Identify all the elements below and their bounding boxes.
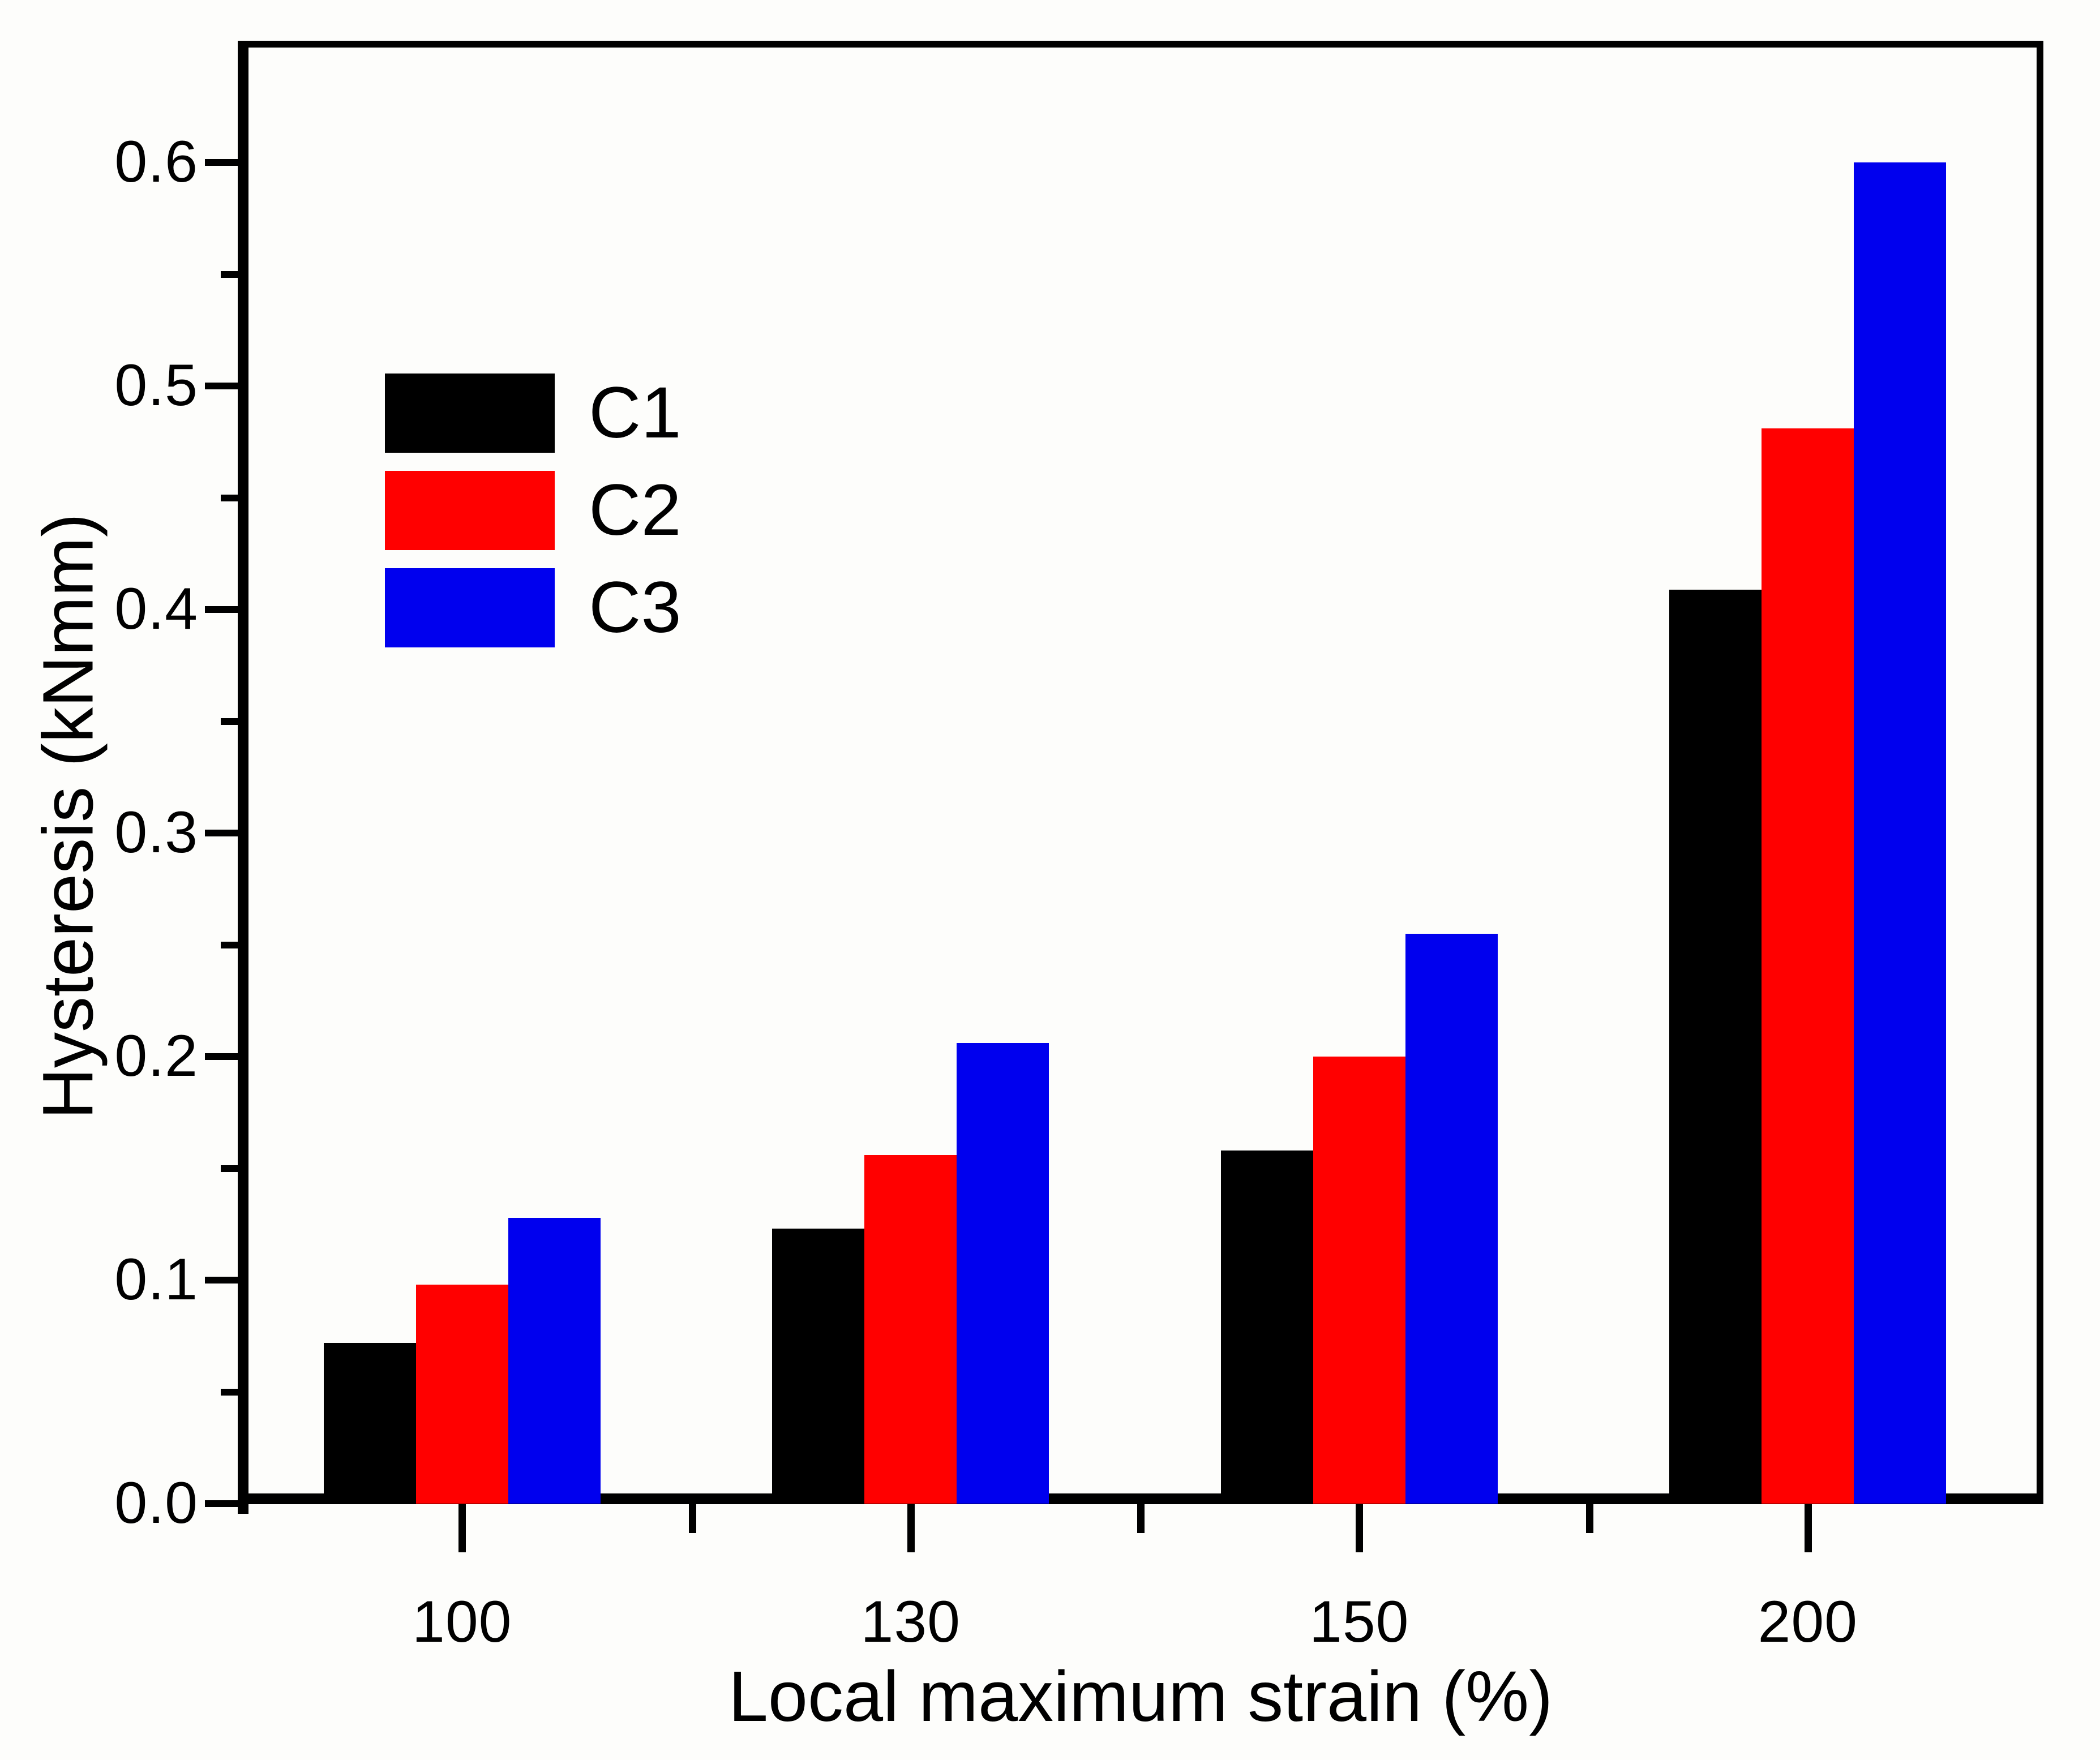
chart-figure: 0.00.10.20.30.40.50.6100130150200 C1 C2 … (0, 0, 2100, 1760)
legend-swatch-c1 (385, 374, 555, 453)
x-tick-major (458, 1504, 466, 1552)
x-tick-label: 100 (412, 1589, 512, 1656)
y-tick-major (205, 383, 243, 389)
legend-item-c2[interactable]: C2 (385, 468, 781, 553)
y-tick-minor (221, 1165, 243, 1172)
x-tick-label: 130 (860, 1589, 961, 1656)
bar-c1-130[interactable] (772, 1229, 864, 1504)
legend-swatch-c2 (385, 471, 555, 550)
bar-c2-100[interactable] (416, 1285, 508, 1504)
bar-c2-200[interactable] (1762, 428, 1854, 1504)
plot-area: 0.00.10.20.30.40.50.6100130150200 (243, 51, 2038, 1504)
bar-c1-100[interactable] (324, 1343, 416, 1504)
bar-c3-130[interactable] (957, 1043, 1049, 1504)
legend-label-c3: C3 (589, 572, 682, 644)
x-tick-major (1356, 1504, 1363, 1552)
y-axis-title: Hysteresis (kNmm) (27, 81, 109, 1552)
bar-c3-150[interactable] (1405, 934, 1498, 1504)
x-tick-minor (1137, 1504, 1145, 1533)
y-tick-minor (221, 271, 243, 278)
y-tick-major (205, 1277, 243, 1283)
top-frame-line (238, 41, 2043, 48)
x-tick-minor (689, 1504, 696, 1533)
bar-c2-150[interactable] (1313, 1057, 1405, 1504)
y-tick-major (205, 830, 243, 836)
bar-c2-130[interactable] (864, 1155, 957, 1504)
x-tick-label: 150 (1309, 1589, 1409, 1656)
x-axis-title: Local maximum strain (%) (243, 1655, 2038, 1737)
y-tick-minor (221, 495, 243, 501)
y-tick-major (205, 1500, 243, 1507)
y-tick-major (205, 1053, 243, 1060)
x-tick-major (907, 1504, 915, 1552)
legend-label-c2: C2 (589, 474, 682, 547)
y-tick-minor (221, 942, 243, 948)
x-tick-minor (1586, 1504, 1593, 1533)
bar-c3-100[interactable] (508, 1218, 601, 1504)
legend-item-c3[interactable]: C3 (385, 565, 781, 650)
bar-c1-200[interactable] (1669, 590, 1762, 1504)
bar-c3-200[interactable] (1854, 162, 1946, 1504)
x-tick-major (1805, 1504, 1812, 1552)
x-tick-label: 200 (1758, 1589, 1858, 1656)
bar-c1-150[interactable] (1221, 1151, 1313, 1504)
legend-swatch-c3 (385, 568, 555, 647)
legend-item-c1[interactable]: C1 (385, 371, 781, 456)
y-tick-major (205, 606, 243, 613)
chart-legend: C1 C2 C3 (385, 371, 781, 663)
y-tick-minor (221, 718, 243, 725)
y-tick-major (205, 159, 243, 166)
legend-label-c1: C1 (589, 377, 682, 449)
y-tick-minor (221, 1389, 243, 1396)
